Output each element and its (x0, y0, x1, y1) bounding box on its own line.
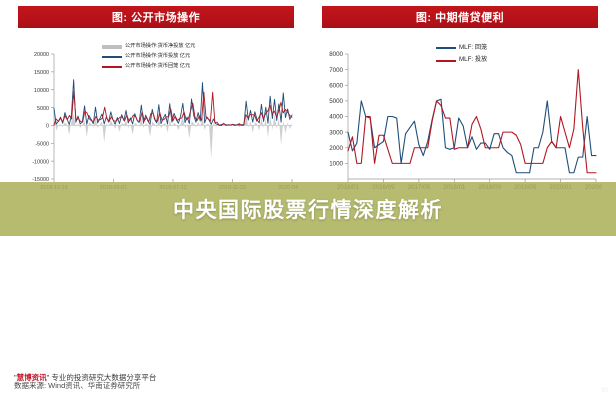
overlay-title-band: 中央国际股票行情深度解析 (0, 182, 616, 236)
svg-text:7000: 7000 (329, 67, 343, 74)
legend-label-mlf-injection: MLF: 投放 (459, 54, 487, 66)
legend-swatch-red-icon (102, 66, 122, 68)
legend-item-withdrawal: 公开市场操作:货币回笼 亿元 (102, 62, 195, 72)
svg-text:2000: 2000 (329, 145, 343, 152)
legend-label-net-injection: 公开市场操作:货币净投放 亿元 (125, 42, 195, 52)
chart-title-banner-right: 图: 中期借贷便利 (322, 6, 598, 28)
footer-source-text: 数据来源: Wind资讯、华南证券研究所 (14, 381, 140, 390)
svg-text:-5000: -5000 (35, 141, 49, 147)
svg-text:10000: 10000 (34, 88, 49, 94)
legend-item-net-injection: 公开市场操作:货币净投放 亿元 (102, 42, 195, 52)
svg-text:3000: 3000 (329, 129, 343, 136)
legend-item-injection: 公开市场操作:货币投放 亿元 (102, 52, 195, 62)
chart-panel-medium-term-lending-facility: 图: 中期借贷便利 800070006000500040003000200010… (312, 0, 608, 205)
chart-legend-left: 公开市场操作:货币净投放 亿元 公开市场操作:货币投放 亿元 公开市场操作:货币… (102, 42, 195, 72)
legend-label-withdrawal: 公开市场操作:货币回笼 亿元 (125, 62, 190, 72)
chart-panel-open-market-operations: 图: 公开市场操作 20000150001000050000-5000-1000… (8, 0, 304, 205)
svg-text:1000: 1000 (329, 161, 343, 168)
legend-swatch-navy-icon (102, 56, 122, 58)
slide-canvas: 图: 公开市场操作 20000150001000050000-5000-1000… (0, 0, 616, 400)
chart-legend-right: MLF: 回笼 MLF: 投放 (436, 42, 487, 67)
svg-text:0: 0 (46, 124, 49, 130)
svg-text:20000: 20000 (34, 52, 49, 58)
legend-swatch-red-icon (436, 60, 456, 62)
svg-text:-10000: -10000 (32, 159, 49, 165)
corner-watermark: m (601, 385, 608, 394)
plot-area-right: 800070006000500040003000200010002016/012… (318, 40, 602, 205)
svg-text:6000: 6000 (329, 82, 343, 89)
overlay-title-text: 中央国际股票行情深度解析 (173, 194, 443, 224)
legend-swatch-bar-icon (102, 45, 122, 49)
legend-item-mlf-withdrawal: MLF: 回笼 (436, 42, 487, 54)
plot-area-left: 20000150001000050000-5000-10000-15000201… (14, 40, 298, 205)
chart-title-banner-left: 图: 公开市场操作 (18, 6, 294, 28)
footer: "慧博资讯" 专业的投资研究大数据分享平台 数据来源: Wind资讯、华南证券研… (14, 372, 156, 392)
svg-text:5000: 5000 (37, 106, 49, 112)
legend-item-mlf-injection: MLF: 投放 (436, 54, 487, 66)
chart-title-right: 图: 中期借贷便利 (416, 9, 504, 25)
svg-text:4000: 4000 (329, 114, 343, 121)
footer-source-line: 数据来源: Wind资讯、华南证券研究所 (14, 380, 156, 392)
svg-text:15000: 15000 (34, 70, 49, 76)
svg-text:8000: 8000 (329, 51, 343, 58)
legend-swatch-navy-icon (436, 47, 456, 49)
chart-title-left: 图: 公开市场操作 (112, 9, 200, 25)
legend-label-injection: 公开市场操作:货币投放 亿元 (125, 52, 190, 62)
legend-label-mlf-withdrawal: MLF: 回笼 (459, 42, 487, 54)
svg-text:5000: 5000 (329, 98, 343, 105)
